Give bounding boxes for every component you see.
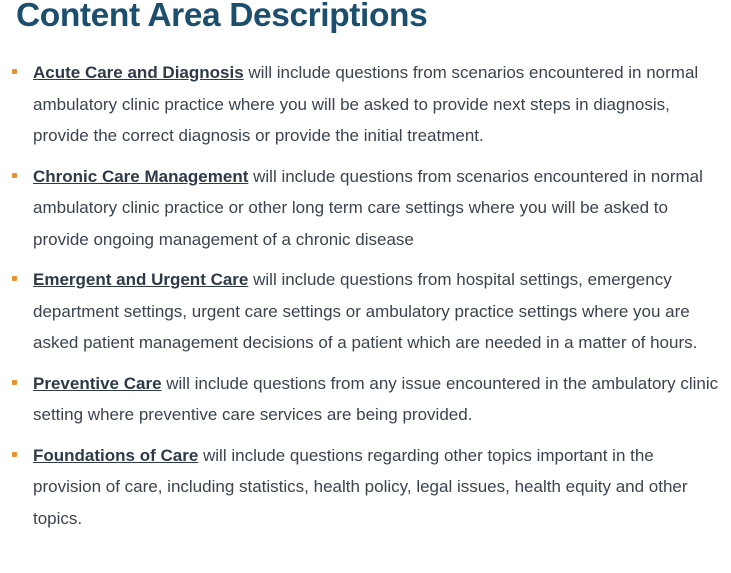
bullet-dot-icon [12,276,17,281]
list-item-term: Preventive Care [33,374,162,393]
list-item-term: Chronic Care Management [33,167,248,186]
content-area-descriptions-page: Content Area Descriptions Acute Care and… [0,0,731,573]
list-item: Emergent and Urgent Care will include qu… [0,264,731,359]
list-item-term: Foundations of Care [33,446,198,465]
page-title: Content Area Descriptions [16,0,427,36]
list-item-term: Acute Care and Diagnosis [33,63,244,82]
bullet-dot-icon [12,69,17,74]
list-item: Foundations of Care will include questio… [0,440,731,535]
list-item: Chronic Care Management will include que… [0,161,731,256]
bullet-dot-icon [12,380,17,385]
content-area-list: Acute Care and Diagnosis will include qu… [0,57,731,534]
list-item: Acute Care and Diagnosis will include qu… [0,57,731,152]
bullet-dot-icon [12,173,17,178]
bullet-dot-icon [12,452,17,457]
list-item: Preventive Care will include questions f… [0,368,731,431]
list-item-term: Emergent and Urgent Care [33,270,248,289]
